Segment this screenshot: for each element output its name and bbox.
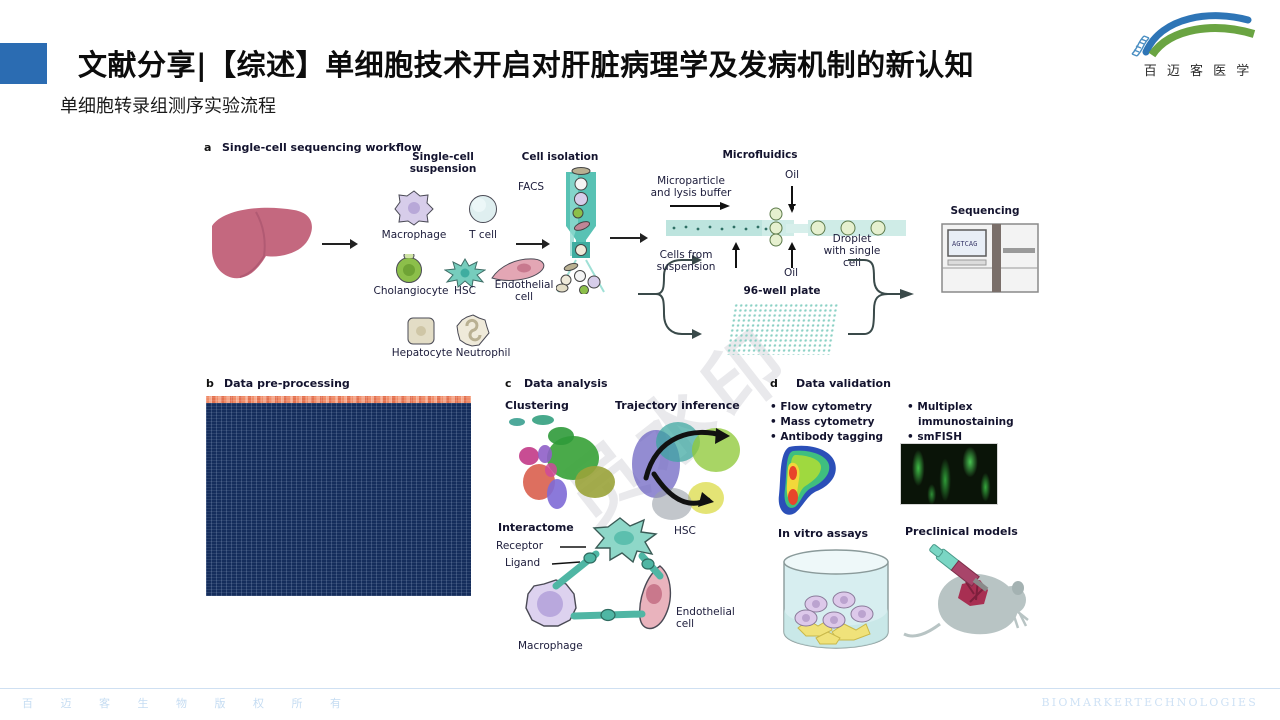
label-oil-top: Oil: [775, 170, 809, 182]
flow-cytometry-density-plot: [773, 441, 845, 519]
page-title: 文献分享|【综述】单细胞技术开启对肝脏病理学及发病机制的新认知: [78, 42, 974, 84]
label-facs: FACS: [518, 182, 544, 194]
facs-sorter-icon: [556, 166, 606, 294]
preclinical-mouse-icon: [900, 542, 1030, 652]
hsc-cell-icon: [444, 258, 486, 288]
bullet-multiplex-label: Multiplex: [917, 401, 972, 413]
96-well-plate-icon: [726, 303, 839, 355]
label-macrophage: Macrophage: [372, 230, 456, 242]
interactome-diagram: [500, 514, 700, 654]
label-endothelial-cell: Endothelial cell: [488, 280, 560, 304]
sequencer-screen-text: AGTCAG: [952, 240, 977, 248]
heatmap-texture: [206, 396, 471, 596]
panel-c-title: Data analysis: [524, 378, 608, 390]
macrophage-cell-icon: [394, 190, 434, 226]
in-vitro-dish-icon: [776, 546, 896, 656]
label-in-vitro-assays: In vitro assays: [778, 528, 868, 540]
label-preclinical-models: Preclinical models: [905, 526, 1018, 538]
merge-bracket-icon: [848, 198, 918, 358]
label-oil-bottom: Oil: [774, 268, 808, 280]
logo-text: 百 迈 客 医 学: [1128, 60, 1268, 79]
panel-d-letter: d: [770, 378, 778, 390]
bullet-multiplex: • Multiplex: [907, 400, 973, 415]
page-subtitle: 单细胞转录组测序实验流程: [60, 92, 276, 118]
label-96-well-plate: 96-well plate: [708, 286, 856, 298]
arrow-cells-inlet-icon: [730, 242, 742, 268]
logo-arc-icon: [1128, 8, 1268, 63]
panel-c-letter: c: [505, 378, 512, 390]
t-cell-icon: [468, 194, 498, 224]
bullet-immunostaining-label: immunostaining: [918, 416, 1014, 428]
panel-d-title: Data validation: [796, 378, 891, 390]
cholangiocyte-cell-icon: [394, 254, 424, 284]
heading-single-cell-suspension: Single-cell suspension: [398, 152, 488, 176]
label-cholangiocyte: Cholangiocyte: [368, 286, 454, 298]
footer-copyright-cn: 百 迈 客 生 物 版 权 所 有: [22, 695, 353, 711]
heading-sequencing: Sequencing: [935, 206, 1035, 218]
figure-single-cell-workflow: 员水印 a Single-cell sequencing workflow Si…: [200, 138, 1040, 668]
clustering-umap-plot: [495, 410, 635, 530]
label-cells-from-suspension: Cells from suspension: [640, 250, 732, 274]
heading-cell-isolation: Cell isolation: [510, 152, 610, 164]
arrow-oil-bottom-icon: [786, 242, 798, 268]
heading-microfluidics: Microfluidics: [700, 150, 820, 162]
label-t-cell: T cell: [453, 230, 513, 242]
label-microparticle-lysis-buffer: Microparticle and lysis buffer: [636, 176, 746, 200]
bullet-smfish-label: smFISH: [917, 431, 962, 443]
liver-illustration-icon: [208, 200, 318, 290]
bullet-flow-cytometry: • Flow cytometry: [770, 400, 872, 415]
bullet-mass-cytometry: • Mass cytometry: [770, 415, 874, 430]
neutrophil-cell-icon: [456, 314, 490, 348]
panel-b-title: Data pre-processing: [224, 378, 350, 390]
smfish-micrograph: [900, 443, 998, 505]
company-logo: 百 迈 客 医 学: [1128, 8, 1268, 86]
arrow-suspension-to-isolation-icon: [516, 236, 552, 252]
footer-divider: [0, 688, 1280, 689]
label-neutrophil: Neutrophil: [448, 348, 518, 360]
hepatocyte-cell-icon: [406, 316, 436, 346]
title-accent-square: [0, 43, 47, 84]
sequencer-machine-icon: AGTCAG: [940, 222, 1040, 294]
panel-b-letter: b: [206, 378, 214, 390]
gene-expression-heatmap: [206, 396, 471, 596]
label-hsc: HSC: [444, 286, 486, 298]
bullet-mass-cytometry-label: Mass cytometry: [780, 416, 874, 428]
panel-a-letter: a: [204, 142, 211, 154]
bullet-flow-cytometry-label: Flow cytometry: [780, 401, 872, 413]
panel-a-title: Single-cell sequencing workflow: [222, 142, 422, 154]
slide-canvas: 文献分享|【综述】单细胞技术开启对肝脏病理学及发病机制的新认知 单细胞转录组测序…: [0, 0, 1280, 720]
bullet-immunostaining: immunostaining: [918, 415, 1014, 430]
arrow-liver-to-suspension-icon: [320, 236, 360, 252]
footer-brand-en: BIOMARKERTECHNOLOGIES: [1041, 696, 1258, 709]
